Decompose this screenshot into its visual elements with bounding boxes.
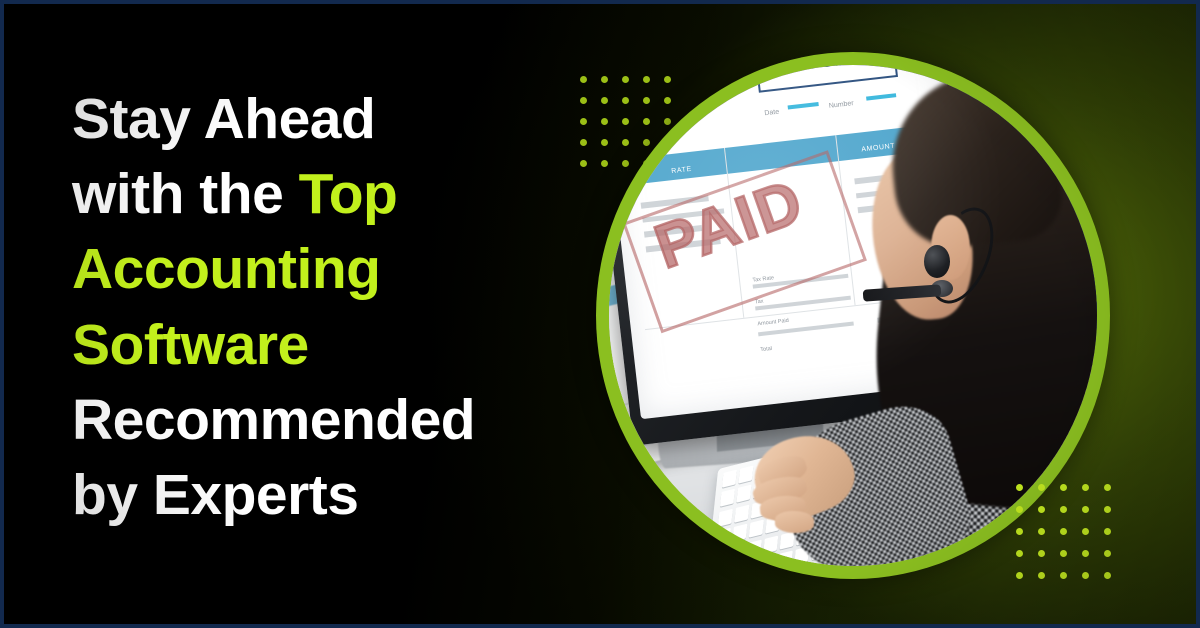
- keyboard-key: [719, 489, 734, 507]
- keyboard-key: [761, 554, 776, 566]
- headline-segment: with the: [72, 162, 299, 226]
- headline-line-6: by Experts: [72, 458, 592, 533]
- keyboard-key: [715, 528, 730, 546]
- decor-dot: [1016, 550, 1023, 557]
- decor-dot: [1060, 506, 1067, 513]
- decor-dot: [1082, 550, 1089, 557]
- invoice-bill-line: [626, 100, 688, 112]
- invoice-number-label: Number: [827, 92, 854, 113]
- person-finger: [775, 510, 815, 533]
- decor-dot: [1082, 484, 1089, 491]
- invoice-bill-line: [628, 114, 696, 127]
- decor-dot: [1104, 484, 1111, 491]
- decor-dot: [601, 118, 608, 125]
- decor-dot: [580, 97, 587, 104]
- decor-dot: [1016, 572, 1023, 579]
- keyboard-key: [730, 543, 745, 561]
- decor-dot: [1060, 550, 1067, 557]
- headline-line-5: Recommended: [72, 383, 592, 458]
- decor-dot: [1038, 550, 1045, 557]
- headline-segment: Recommended: [72, 388, 475, 452]
- invoice-total-row: Total: [759, 337, 773, 356]
- decor-dot: [1038, 484, 1045, 491]
- decor-dot: [1104, 506, 1111, 513]
- headline-segment: Stay Ahead: [72, 87, 375, 151]
- headline-segment: Software: [72, 313, 309, 377]
- keyboard-key: [738, 465, 753, 483]
- dot-grid-bottom-right: [1016, 484, 1126, 594]
- decor-dot: [1104, 572, 1111, 579]
- invoice-date-line: [787, 102, 818, 110]
- keyboard-key: [728, 563, 743, 566]
- decor-dot: [580, 139, 587, 146]
- keyboard-key: [749, 519, 764, 537]
- keyboard-key: [732, 524, 747, 542]
- decor-dot: [1016, 506, 1023, 513]
- decor-dot: [1082, 528, 1089, 535]
- headline-line-1: Stay Ahead: [72, 82, 592, 157]
- keyboard-key: [778, 550, 793, 566]
- decor-dot: [580, 118, 587, 125]
- decor-dot: [601, 139, 608, 146]
- decor-dot: [580, 76, 587, 83]
- keyboard-key: [746, 539, 761, 557]
- keyboard-key: [717, 508, 732, 526]
- headline-segment: Accounting: [72, 237, 380, 301]
- decor-dot: [1038, 572, 1045, 579]
- decor-dot: [1082, 506, 1089, 513]
- decor-dot: [1060, 528, 1067, 535]
- decor-dot: [601, 160, 608, 167]
- invoice-date-label: Date: [763, 101, 780, 121]
- invoice-title: INVOICE: [753, 65, 898, 92]
- decor-dot: [601, 97, 608, 104]
- keyboard-key: [722, 469, 737, 487]
- decor-dot: [1016, 484, 1023, 491]
- headline-segment: Top: [299, 162, 398, 226]
- decor-dot: [1104, 550, 1111, 557]
- invoice-number-line: [865, 93, 896, 101]
- decor-dot: [1104, 528, 1111, 535]
- headline-line-4: Software: [72, 308, 592, 383]
- keyboard-key: [713, 547, 728, 565]
- decor-dot: [1082, 572, 1089, 579]
- invoice-col-amount: AMOUNT: [860, 135, 896, 157]
- keyboard-key: [736, 484, 751, 502]
- decor-dot: [1060, 572, 1067, 579]
- page-title: Stay Ahead with the Top Accounting Softw…: [72, 82, 592, 533]
- invoice-col-rate: RATE: [670, 158, 692, 178]
- keyboard-key: [744, 558, 759, 566]
- decor-dot: [1038, 506, 1045, 513]
- keyboard-key: [734, 504, 749, 522]
- decor-dot: [601, 76, 608, 83]
- headline-segment: by Experts: [72, 463, 358, 527]
- keyboard-key: [763, 535, 778, 553]
- headline-line-2: with the Top: [72, 157, 592, 232]
- invoice-total-row: Amount Paid: [756, 309, 789, 330]
- decor-dot: [1060, 484, 1067, 491]
- keyboard-key: [780, 531, 795, 549]
- headline-line-3: Accounting: [72, 232, 592, 307]
- decor-dot: [1016, 528, 1023, 535]
- promotional-banner: Stay Ahead with the Top Accounting Softw…: [0, 0, 1200, 628]
- decor-dot: [1038, 528, 1045, 535]
- decor-dot: [580, 160, 587, 167]
- invoice-bill-line: [624, 84, 699, 97]
